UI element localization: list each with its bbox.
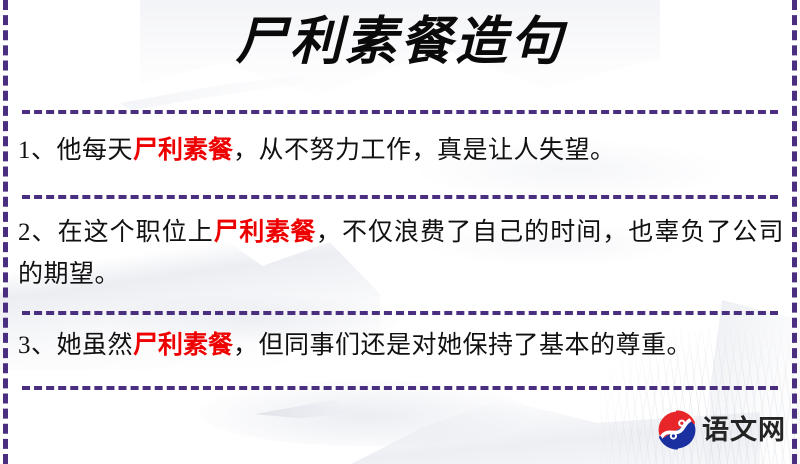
sentence-text-after-1: ，从不努力工作，真是让人失望。 bbox=[233, 137, 616, 164]
divider-after-sentence-2 bbox=[22, 311, 778, 315]
page-root: 尸利素餐造句 1、他每天尸利素餐，从不努力工作，真是让人失望。 2、在这个职位上… bbox=[0, 0, 800, 464]
sentence-number-3: 3、 bbox=[18, 332, 57, 359]
sentence-item-2: 2、在这个职位上尸利素餐，不仅浪费了自己的时间，也辜负了公司的期望。 bbox=[18, 212, 784, 296]
idiom-highlight-3: 尸利素餐 bbox=[133, 332, 233, 359]
divider-top bbox=[22, 110, 778, 114]
yin-yang-circle-icon bbox=[657, 410, 697, 450]
divider-bottom bbox=[22, 386, 778, 390]
site-logo-text: 语文网 bbox=[702, 417, 786, 444]
sentence-text-before-1: 他每天 bbox=[57, 137, 134, 164]
sentence-text-before-3: 她虽然 bbox=[57, 332, 134, 359]
sentence-text-before-2: 在这个职位上 bbox=[58, 219, 214, 246]
sentence-number-1: 1、 bbox=[18, 137, 57, 164]
site-logo[interactable]: 语文网 bbox=[657, 410, 786, 450]
frame-border-left bbox=[3, 0, 8, 464]
divider-after-sentence-1 bbox=[22, 195, 778, 199]
sentence-text-after-3: ，但同事们还是对她保持了基本的尊重。 bbox=[233, 332, 692, 359]
frame-border-right bbox=[792, 0, 797, 464]
sentence-item-3: 3、她虽然尸利素餐，但同事们还是对她保持了基本的尊重。 bbox=[18, 325, 784, 367]
content-area: 尸利素餐造句 1、他每天尸利素餐，从不努力工作，真是让人失望。 2、在这个职位上… bbox=[0, 0, 800, 464]
sentence-item-1: 1、他每天尸利素餐，从不努力工作，真是让人失望。 bbox=[18, 130, 784, 172]
sentence-number-2: 2、 bbox=[18, 219, 58, 246]
idiom-highlight-2: 尸利素餐 bbox=[214, 219, 316, 246]
idiom-highlight-1: 尸利素餐 bbox=[133, 137, 233, 164]
page-title: 尸利素餐造句 bbox=[0, 8, 800, 78]
